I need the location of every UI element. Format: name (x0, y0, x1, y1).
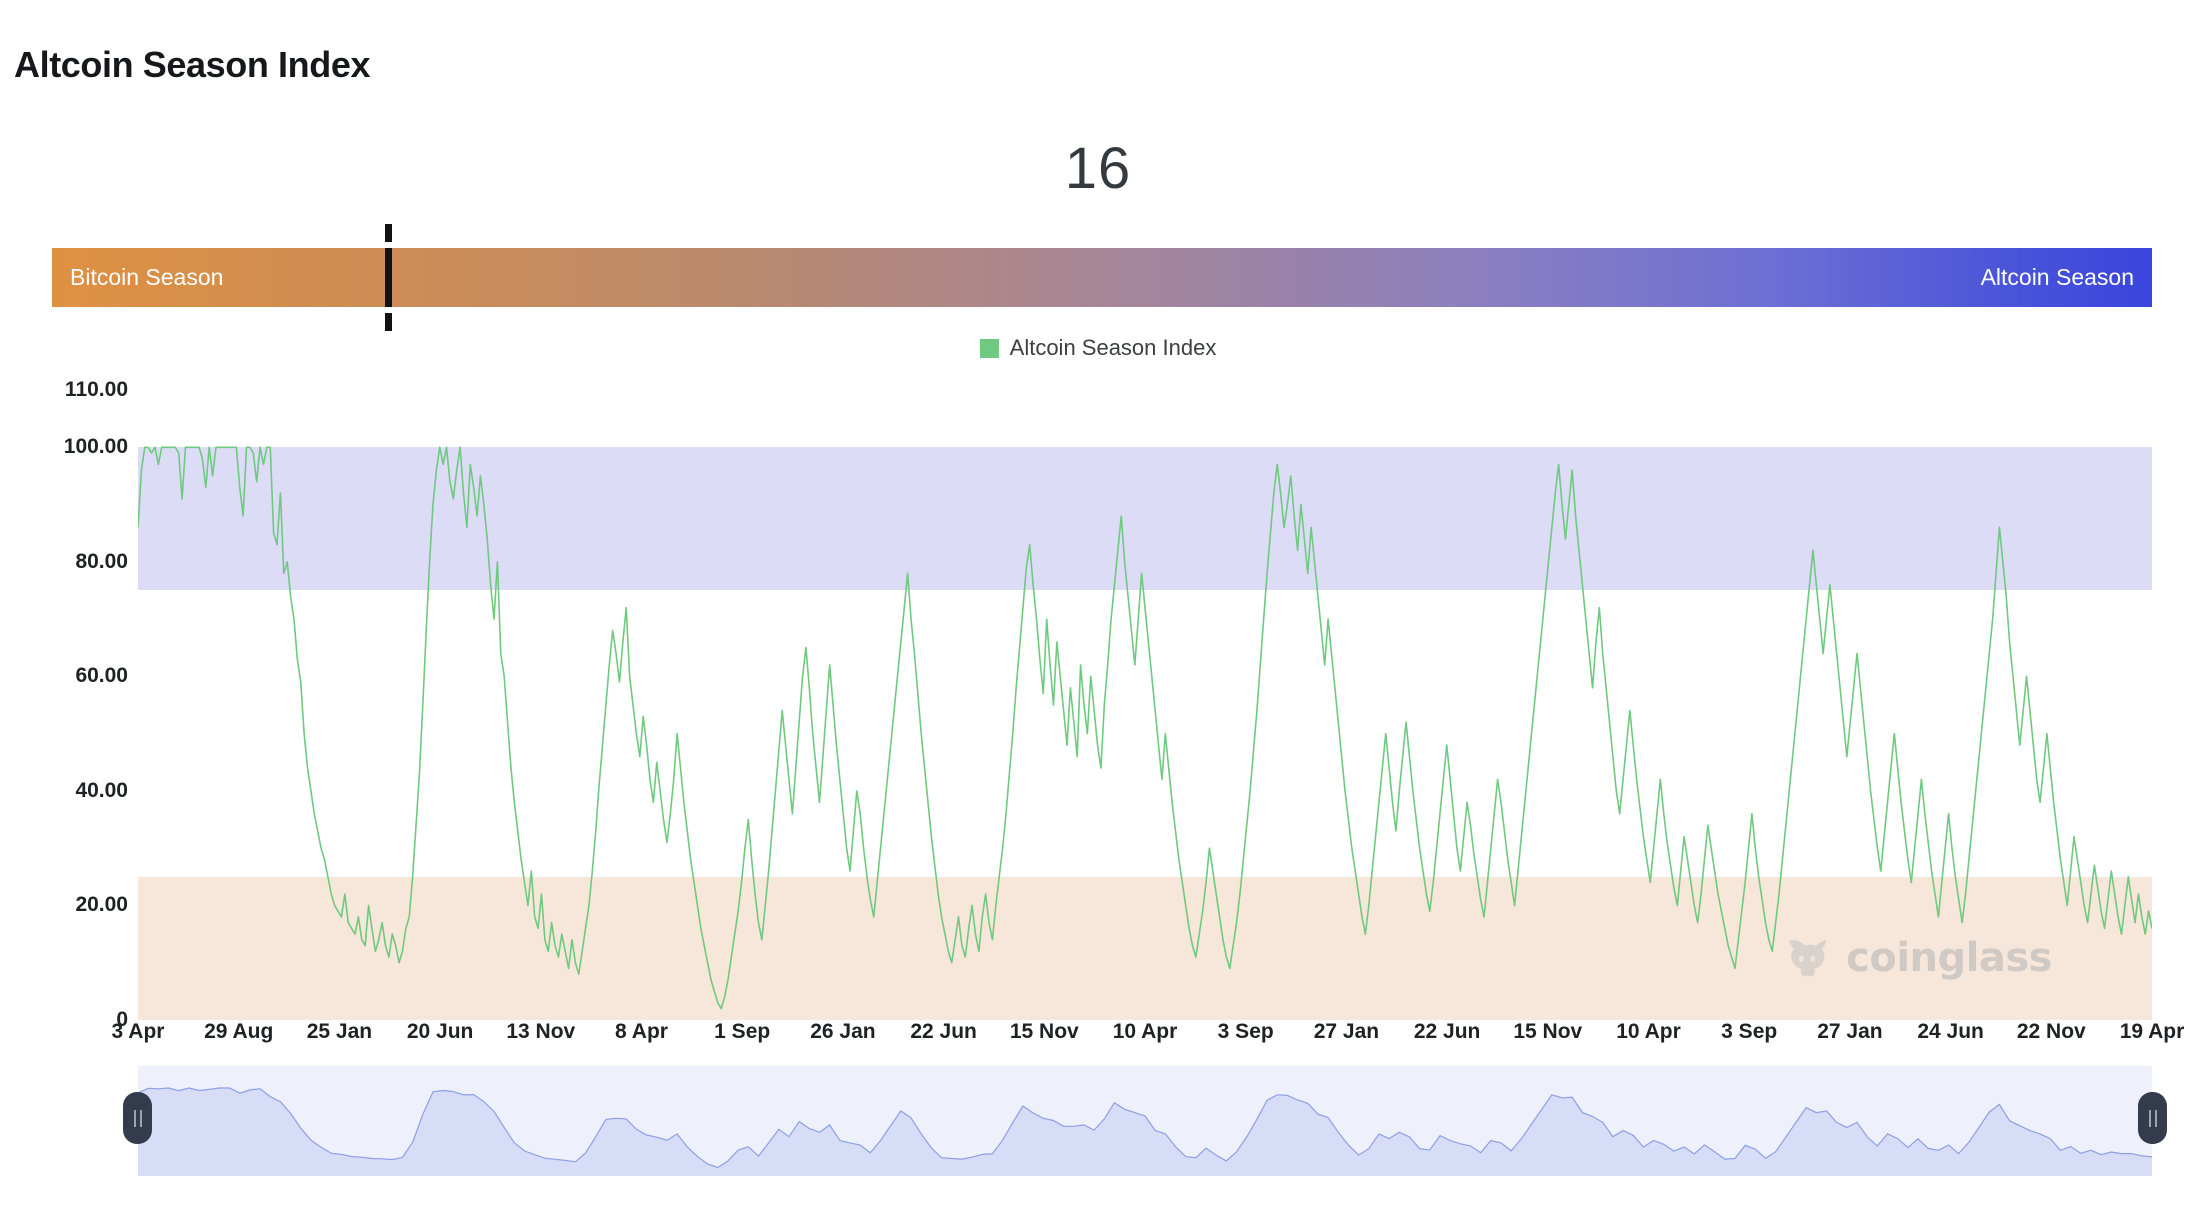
x-axis-tick: 3 Sep (1218, 1020, 1274, 1044)
x-axis-tick: 20 Jun (407, 1020, 474, 1044)
legend-color-swatch-icon (980, 339, 999, 358)
x-axis-tick: 10 Apr (1616, 1020, 1681, 1044)
legend-label: Altcoin Season Index (1010, 335, 1217, 361)
x-axis-tick: 26 Jan (810, 1020, 875, 1044)
gauge-left-label: Bitcoin Season (70, 248, 223, 307)
x-axis-tick: 3 Sep (1721, 1020, 1777, 1044)
gauge-marker (385, 248, 392, 307)
grip-line-icon (2149, 1110, 2151, 1127)
season-gauge[interactable]: Bitcoin Season Altcoin Season (52, 248, 2152, 307)
range-handle-right[interactable] (2138, 1092, 2167, 1144)
y-axis-tick: 60.00 (75, 664, 128, 688)
navigator-preview-series (138, 1066, 2152, 1176)
x-axis-tick: 1 Sep (714, 1020, 770, 1044)
x-axis-tick: 22 Jun (910, 1020, 977, 1044)
y-axis-tick: 80.00 (75, 550, 128, 574)
x-axis-tick: 29 Aug (204, 1020, 273, 1044)
y-axis-tick: 110.00 (65, 378, 128, 402)
gauge-right-label: Altcoin Season (1981, 248, 2134, 307)
gauge-marker-tick-bottom (385, 313, 392, 331)
plot-area[interactable]: coinglass (138, 390, 2152, 1020)
x-axis-tick: 27 Jan (1817, 1020, 1882, 1044)
x-axis-tick: 3 Apr (112, 1020, 165, 1044)
page-title: Altcoin Season Index (14, 44, 370, 86)
range-navigator[interactable] (138, 1066, 2152, 1176)
coinglass-watermark: coinglass (1781, 932, 2052, 984)
altcoin-season-index-page: Altcoin Season Index 16 Bitcoin Season A… (0, 0, 2196, 1206)
watermark-text: coinglass (1846, 935, 2052, 981)
x-axis-tick: 8 Apr (615, 1020, 668, 1044)
x-axis-tick: 15 Nov (1513, 1020, 1582, 1044)
gauge-value: 16 (0, 140, 2196, 198)
grip-line-icon (134, 1110, 136, 1127)
x-axis: 3 Apr29 Aug25 Jan20 Jun13 Nov8 Apr1 Sep2… (138, 1020, 2152, 1060)
x-axis-tick: 19 Apr (2120, 1020, 2185, 1044)
x-axis-tick: 10 Apr (1113, 1020, 1178, 1044)
x-axis-tick: 22 Nov (2017, 1020, 2086, 1044)
x-axis-tick: 27 Jan (1314, 1020, 1379, 1044)
range-handle-left[interactable] (123, 1092, 152, 1144)
gauge-gradient-bar (52, 248, 2152, 307)
gauge-marker-tick-top (385, 224, 392, 242)
grip-line-icon (2155, 1110, 2157, 1127)
y-axis-tick: 100.00 (64, 435, 128, 459)
bull-logo-icon (1781, 932, 1833, 984)
x-axis-tick: 25 Jan (307, 1020, 372, 1044)
x-axis-tick: 13 Nov (506, 1020, 575, 1044)
grip-line-icon (140, 1110, 142, 1127)
altcoin-season-index-line (138, 390, 2152, 1020)
y-axis: 020.0040.0060.0080.00100.00110.00 (0, 390, 128, 1020)
chart-area: 020.0040.0060.0080.00100.00110.00 coingl… (0, 390, 2196, 1020)
y-axis-tick: 20.00 (75, 893, 128, 917)
x-axis-tick: 22 Jun (1414, 1020, 1481, 1044)
x-axis-tick: 24 Jun (1917, 1020, 1984, 1044)
y-axis-tick: 40.00 (75, 779, 128, 803)
x-axis-tick: 15 Nov (1010, 1020, 1079, 1044)
chart-legend[interactable]: Altcoin Season Index (0, 335, 2196, 361)
